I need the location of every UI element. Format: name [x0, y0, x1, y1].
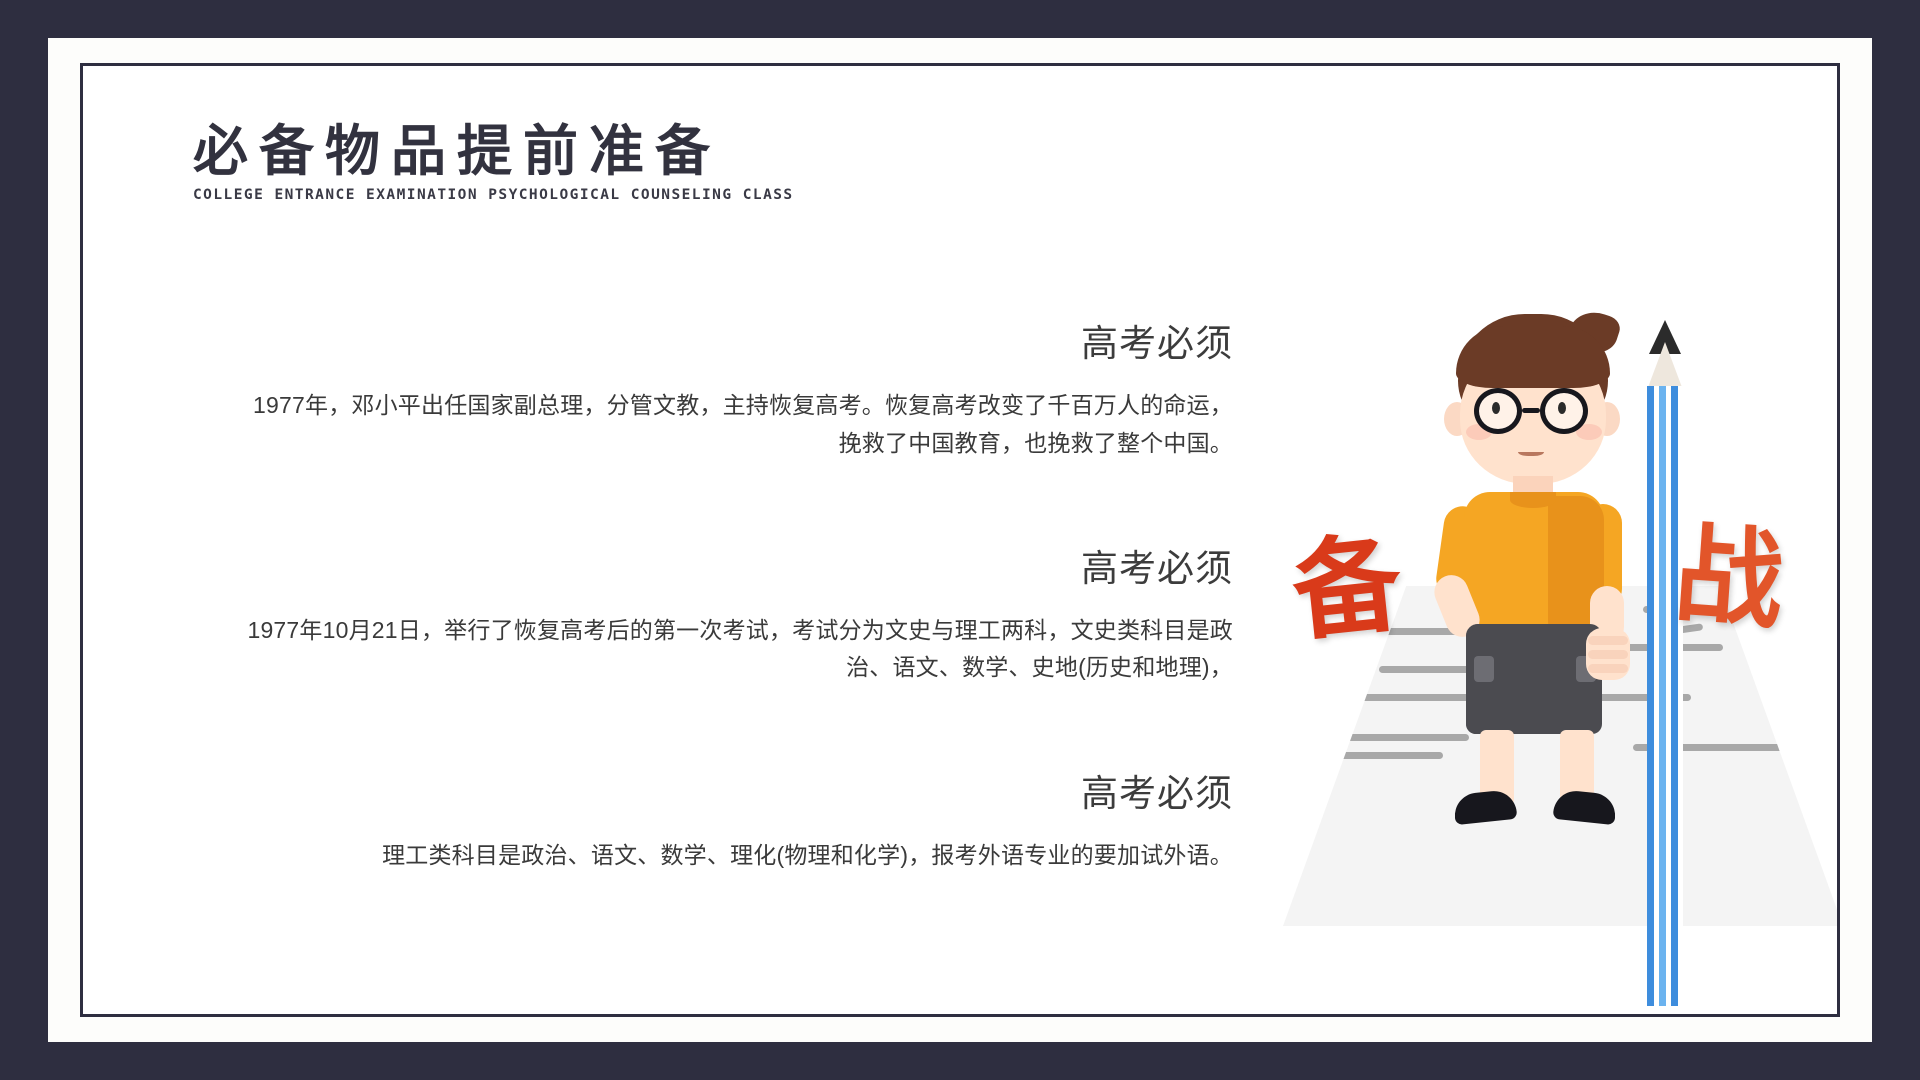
- block-spacer-2: [233, 735, 1233, 771]
- collar-icon: [1510, 492, 1556, 508]
- block-body-3: 理工类科目是政治、语文、数学、理化(物理和化学)，报考外语专业的要加试外语。: [233, 837, 1233, 874]
- calligraphy-char-2: 战: [1671, 520, 1786, 635]
- content-block-1: 高考必须 1977年，邓小平出任国家副总理，分管文教，主持恢复高考。恢复高考改变…: [233, 321, 1233, 462]
- slide-canvas: 必备物品提前准备 COLLEGE ENTRANCE EXAMINATION PS…: [0, 0, 1920, 1080]
- pencil-wood-icon: [1647, 342, 1683, 390]
- block-heading-3: 高考必须: [233, 771, 1233, 817]
- illustration-student-with-pencil: 备 战: [1243, 306, 1840, 986]
- glasses-bridge-icon: [1522, 408, 1540, 413]
- eye-left-icon: [1492, 402, 1500, 414]
- page-subtitle: COLLEGE ENTRANCE EXAMINATION PSYCHOLOGIC…: [193, 187, 794, 203]
- pocket-left-icon: [1474, 656, 1494, 682]
- block-heading-2: 高考必须: [233, 546, 1233, 592]
- block-spacer-1: [233, 510, 1233, 546]
- slide-inner-frame: 必备物品提前准备 COLLEGE ENTRANCE EXAMINATION PS…: [80, 63, 1840, 1017]
- eye-right-icon: [1558, 402, 1566, 414]
- pencil-icon: [1645, 320, 1685, 1008]
- block-body-1: 1977年，邓小平出任国家副总理，分管文教，主持恢复高考。恢复高考改变了千百万人…: [233, 387, 1233, 462]
- content-column: 高考必须 1977年，邓小平出任国家副总理，分管文教，主持恢复高考。恢复高考改变…: [233, 321, 1233, 874]
- slide-header: 必备物品提前准备 COLLEGE ENTRANCE EXAMINATION PS…: [193, 121, 794, 203]
- slide-outer-frame: 必备物品提前准备 COLLEGE ENTRANCE EXAMINATION PS…: [48, 38, 1872, 1042]
- mouth-icon: [1518, 446, 1544, 456]
- pencil-body-icon: [1647, 386, 1683, 1006]
- finger-3-icon: [1588, 664, 1628, 673]
- fringe-icon: [1456, 326, 1610, 388]
- block-body-2: 1977年10月21日，举行了恢复高考后的第一次考试，考试分为文史与理工两科，文…: [233, 612, 1233, 687]
- finger-2-icon: [1588, 650, 1628, 659]
- content-block-2: 高考必须 1977年10月21日，举行了恢复高考后的第一次考试，考试分为文史与理…: [233, 546, 1233, 687]
- block-heading-1: 高考必须: [233, 321, 1233, 367]
- content-block-3: 高考必须 理工类科目是政治、语文、数学、理化(物理和化学)，报考外语专业的要加试…: [233, 771, 1233, 875]
- finger-1-icon: [1588, 636, 1628, 645]
- page-title: 必备物品提前准备: [193, 121, 794, 183]
- shoe-right-icon: [1553, 789, 1618, 825]
- calligraphy-char-1: 备: [1288, 529, 1407, 648]
